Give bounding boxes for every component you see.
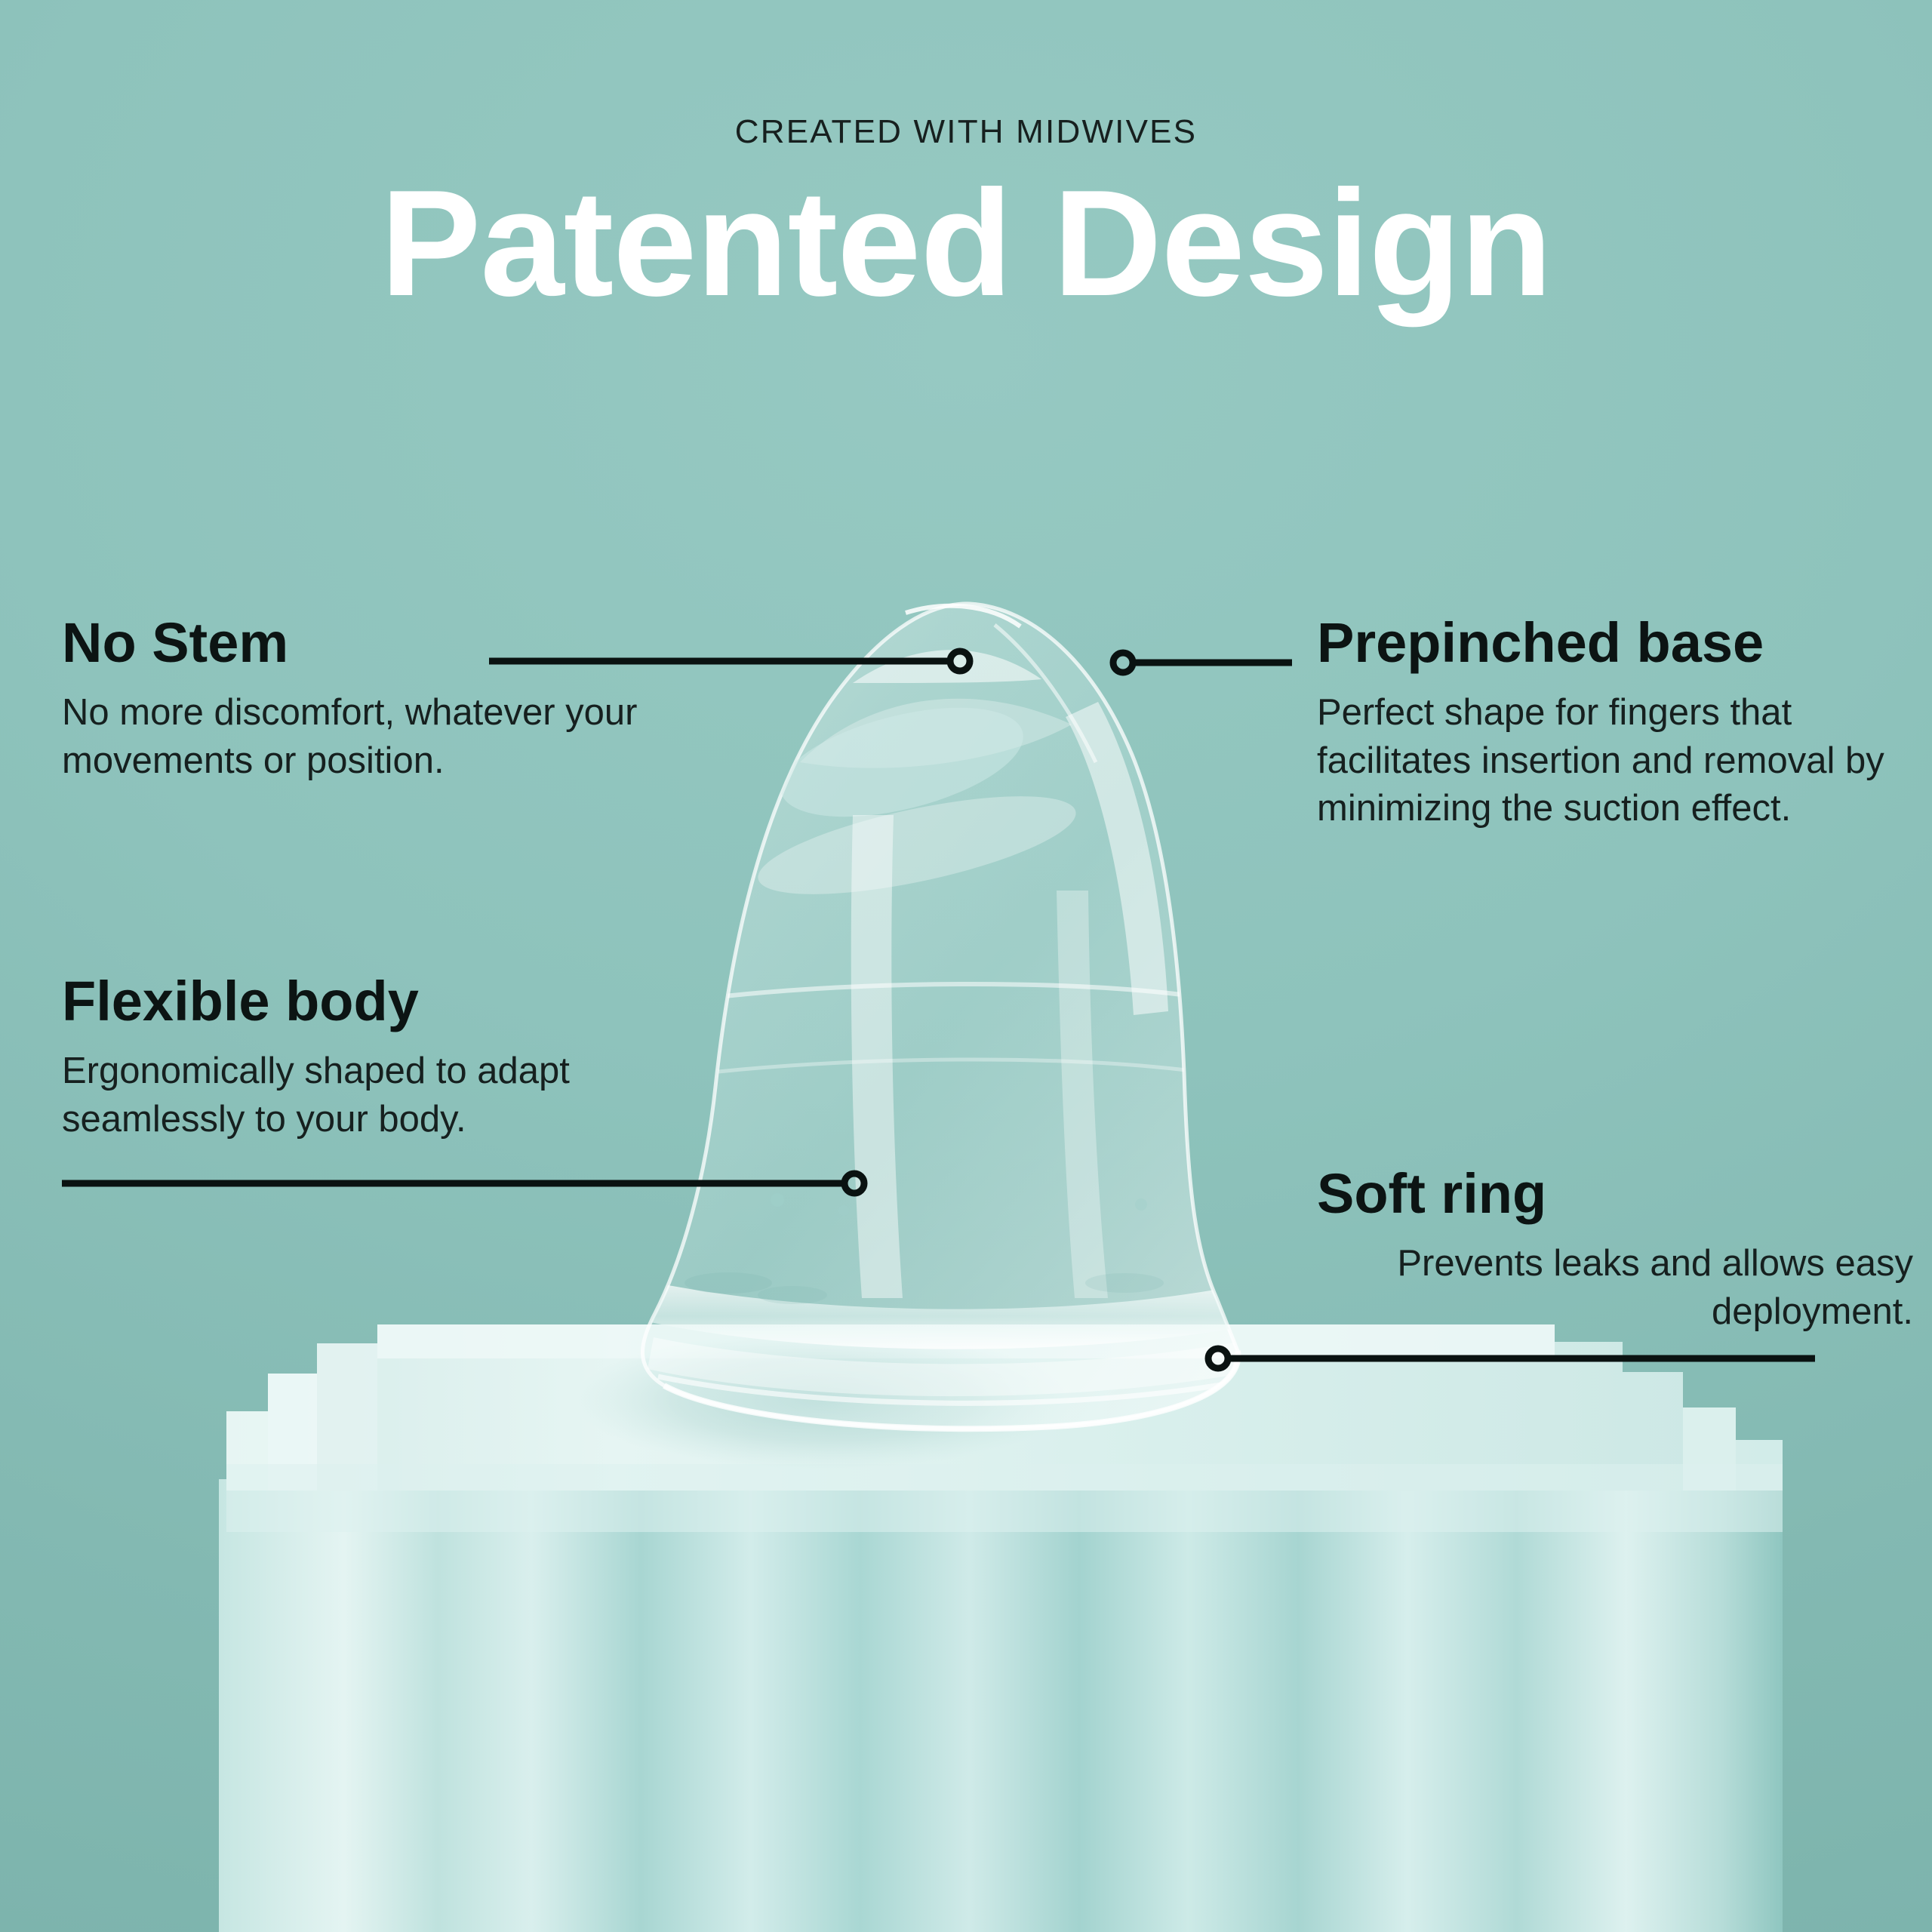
callout-body-prepinched-base: Perfect shape for fingers that facilitat… xyxy=(1317,689,1906,833)
leader-endpoint-no-stem xyxy=(950,651,970,671)
callout-body-no-stem: No more discomfort, whatever your moveme… xyxy=(62,689,696,785)
callout-body-flexible-body: Ergonomically shaped to adapt seamlessly… xyxy=(62,1048,696,1143)
callout-soft-ring: Soft ring Prevents leaks and allows easy… xyxy=(1317,1166,1913,1336)
callout-body-soft-ring: Prevents leaks and allows easy deploymen… xyxy=(1317,1240,1913,1336)
leader-lines xyxy=(0,0,1932,1932)
callout-prepinched-base: Prepinched base Perfect shape for finger… xyxy=(1317,615,1906,833)
callout-title-soft-ring: Soft ring xyxy=(1317,1166,1913,1222)
callout-title-prepinched-base: Prepinched base xyxy=(1317,615,1906,671)
callout-title-no-stem: No Stem xyxy=(62,615,696,671)
leader-endpoint-prepinched-base xyxy=(1113,653,1133,672)
callout-no-stem: No Stem No more discomfort, whatever you… xyxy=(62,615,696,785)
callout-title-flexible-body: Flexible body xyxy=(62,974,696,1029)
leader-endpoint-soft-ring xyxy=(1208,1349,1228,1368)
leader-endpoint-flexible-body xyxy=(844,1174,864,1193)
callout-flexible-body: Flexible body Ergonomically shaped to ad… xyxy=(62,974,696,1143)
infographic-canvas: CREATED WITH MIDWIVES Patented Design No… xyxy=(0,0,1932,1932)
